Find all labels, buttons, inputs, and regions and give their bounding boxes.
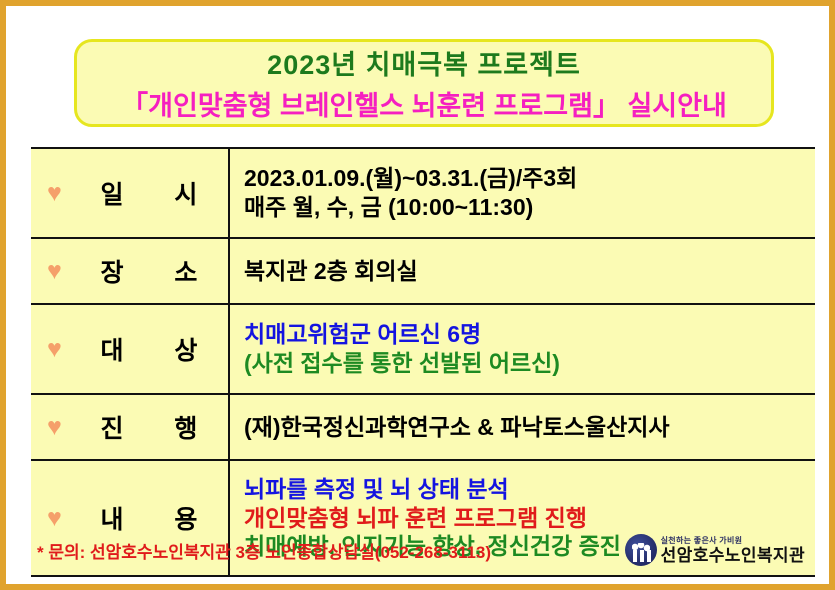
table-row-operator: ♥ 진 행 (재)한국정신과학연구소 & 파낙토스울산지사 bbox=[31, 394, 815, 460]
row-label: 진 행 bbox=[80, 409, 228, 445]
value-line: 복지관 2층 회의실 bbox=[244, 257, 815, 286]
title-line-2: 「개인맞춤형 브레인헬스 뇌훈련 프로그램」 실시안내 bbox=[121, 84, 727, 123]
value-line: 치매고위험군 어르신 6명 bbox=[244, 320, 815, 349]
logo-text-block: 실천하는 좋은사 가비원 선암호수노인복지관 bbox=[661, 537, 805, 564]
table-row-schedule: ♥ 일 시 2023.01.09.(월)~03.31.(금)/주3회 매주 월,… bbox=[31, 148, 815, 238]
label-cell-operator: ♥ 진 행 bbox=[31, 394, 229, 460]
contact-note: * 문의: 선암호수노인복지관 3층 노인종합상담실(052-268-3113) bbox=[31, 538, 491, 563]
logo-name: 선암호수노인복지관 bbox=[661, 547, 805, 564]
info-table-body: ♥ 일 시 2023.01.09.(월)~03.31.(금)/주3회 매주 월,… bbox=[31, 148, 815, 576]
poster-page: 2023년 치매극복 프로젝트 「개인맞춤형 브레인헬스 뇌훈련 프로그램」 실… bbox=[0, 0, 835, 590]
heart-icon: ♥ bbox=[47, 181, 62, 206]
title-line-1: 2023년 치매극복 프로젝트 bbox=[267, 43, 581, 82]
value-line: 뇌파를 측정 및 뇌 상태 분석 bbox=[244, 475, 815, 504]
value-line: 2023.01.09.(월)~03.31.(금)/주3회 bbox=[244, 164, 815, 193]
table-row-place: ♥ 장 소 복지관 2층 회의실 bbox=[31, 238, 815, 304]
label-cell-schedule: ♥ 일 시 bbox=[31, 148, 229, 238]
footer: * 문의: 선암호수노인복지관 3층 노인종합상담실(052-268-3113)… bbox=[31, 527, 815, 573]
heart-icon: ♥ bbox=[47, 415, 62, 440]
organization-logo: 실천하는 좋은사 가비원 선암호수노인복지관 bbox=[625, 534, 815, 566]
label-inner-schedule: ♥ 일 시 bbox=[31, 175, 228, 211]
label-cell-place: ♥ 장 소 bbox=[31, 238, 229, 304]
label-inner-operator: ♥ 진 행 bbox=[31, 409, 228, 445]
welfare-center-logo-icon bbox=[625, 534, 657, 566]
title-banner: 2023년 치매극복 프로젝트 「개인맞춤형 브레인헬스 뇌훈련 프로그램」 실… bbox=[74, 39, 774, 127]
value-line: (재)한국정신과학연구소 & 파낙토스울산지사 bbox=[244, 413, 815, 442]
row-label: 장 소 bbox=[80, 253, 228, 289]
value-cell-place: 복지관 2층 회의실 bbox=[229, 238, 815, 304]
value-cell-operator: (재)한국정신과학연구소 & 파낙토스울산지사 bbox=[229, 394, 815, 460]
value-cell-schedule: 2023.01.09.(월)~03.31.(금)/주3회 매주 월, 수, 금 … bbox=[229, 148, 815, 238]
heart-icon: ♥ bbox=[47, 337, 62, 362]
table-row-target: ♥ 대 상 치매고위험군 어르신 6명 (사전 접수를 통한 선발된 어르신) bbox=[31, 304, 815, 394]
row-label: 일 시 bbox=[80, 175, 228, 211]
value-line: (사전 접수를 통한 선발된 어르신) bbox=[244, 349, 815, 378]
label-inner-place: ♥ 장 소 bbox=[31, 253, 228, 289]
label-inner-target: ♥ 대 상 bbox=[31, 331, 228, 367]
row-label: 대 상 bbox=[80, 331, 228, 367]
label-cell-target: ♥ 대 상 bbox=[31, 304, 229, 394]
logo-slogan: 실천하는 좋은사 가비원 bbox=[661, 537, 805, 545]
program-info-table: ♥ 일 시 2023.01.09.(월)~03.31.(금)/주3회 매주 월,… bbox=[31, 147, 815, 577]
heart-icon: ♥ bbox=[47, 259, 62, 284]
value-line: 매주 월, 수, 금 (10:00~11:30) bbox=[244, 193, 815, 222]
value-cell-target: 치매고위험군 어르신 6명 (사전 접수를 통한 선발된 어르신) bbox=[229, 304, 815, 394]
